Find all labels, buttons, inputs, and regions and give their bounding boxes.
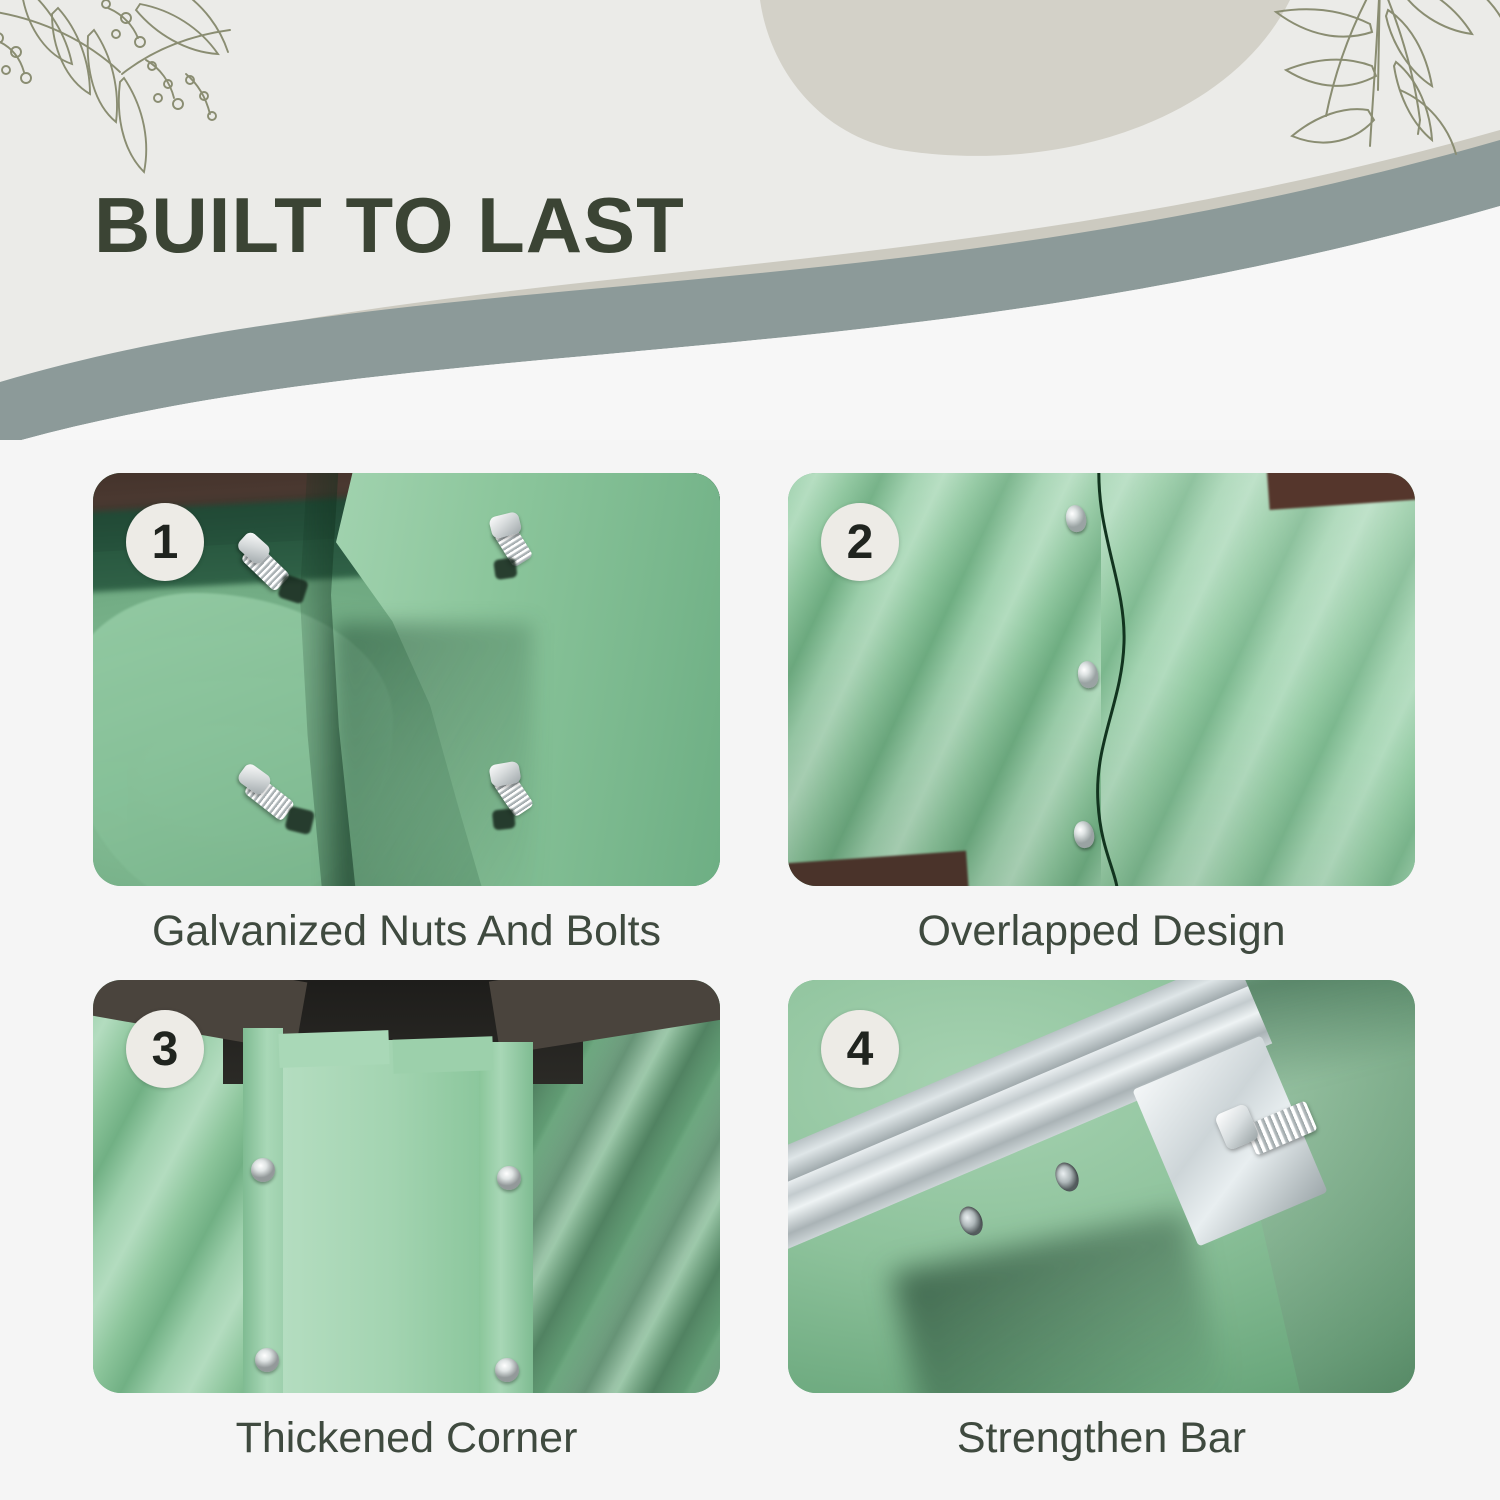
screw-icon xyxy=(251,1158,275,1182)
overlapped-design-photo: 2 xyxy=(788,473,1415,886)
feature-caption: Strengthen Bar xyxy=(788,1415,1415,1462)
feature-number-badge: 2 xyxy=(821,503,899,581)
feature-caption: Thickened Corner xyxy=(93,1415,720,1462)
feature-card-3[interactable]: 3 Thickened Corner xyxy=(93,980,720,1462)
leaf-branch-icon-right xyxy=(1250,0,1500,200)
feature-card-2[interactable]: 2 Overlapped Design xyxy=(788,473,1415,955)
feature-card-4[interactable]: 4 Strengthen Bar xyxy=(788,980,1415,1462)
feature-caption: Galvanized Nuts And Bolts xyxy=(93,908,720,955)
screw-icon xyxy=(497,1166,521,1190)
screw-icon xyxy=(495,1358,519,1382)
feature-number-badge: 3 xyxy=(126,1010,204,1088)
header-banner: BUILT TO LAST xyxy=(0,0,1500,440)
feature-card-1[interactable]: 1 Galvanized Nuts And Bolts xyxy=(93,473,720,955)
feature-caption: Overlapped Design xyxy=(788,908,1415,955)
feature-number-badge: 1 xyxy=(126,503,204,581)
page-title: BUILT TO LAST xyxy=(94,186,685,264)
screw-icon xyxy=(255,1348,279,1372)
thickened-corner-photo: 3 xyxy=(93,980,720,1393)
strengthen-bar-photo: 4 xyxy=(788,980,1415,1393)
feature-number-badge: 4 xyxy=(821,1010,899,1088)
features-grid: 1 Galvanized Nuts And Bolts 2 Overlapped… xyxy=(0,440,1500,1500)
leaf-branch-icon-left xyxy=(0,0,240,186)
galvanized-nuts-and-bolts-photo: 1 xyxy=(93,473,720,886)
